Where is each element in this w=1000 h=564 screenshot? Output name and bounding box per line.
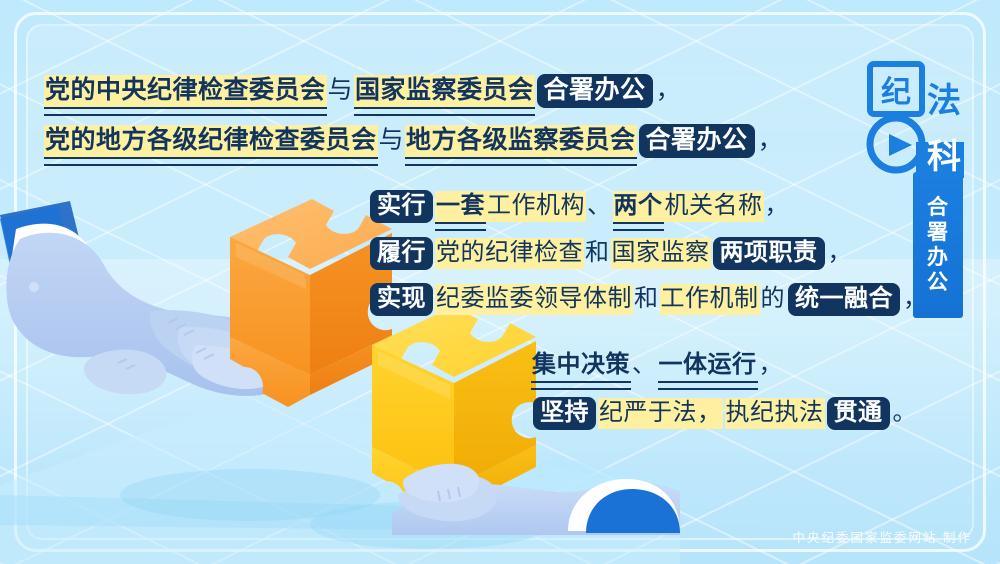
line-5-segment-0: 实现 [370,283,433,316]
vertical-banner-heshu-bangong: 合 署 办 公 [913,172,963,318]
infographic-canvas: 党的中央纪律检查委员会与国家监察委员会合署办公， 党的地方各级纪律检查委员会与地… [0,0,1000,564]
line-1-segment-0: 党的中央纪律检查委员会 [44,75,327,107]
line-3-segment-3: 、 [586,191,613,222]
text-line-5: 实现纪委监委领导体制和工作机制的统一融合， [368,283,929,316]
jifa-baike-logo: 纪 法 科 [860,58,978,178]
line-2-segment-0: 党的地方各级纪律检查委员会 [44,125,378,157]
text-content: 党的中央纪律检查委员会与国家监察委员会合署办公， 党的地方各级纪律检查委员会与地… [0,0,1000,564]
line-2-segment-2: 地方各级监察委员会 [405,125,637,157]
line-7-segment-4: 贯通 [827,397,890,430]
line-4-segment-4: 两项职责 [713,237,825,270]
line-5-segment-1: 纪委监委领导体制 [435,284,633,315]
text-line-1: 党的中央纪律检查委员会与国家监察委员会合署办公， [44,74,682,108]
text-line-2: 党的地方各级纪律检查委员会与地方各级监察委员会合署办公， [44,124,784,158]
text-line-7: 坚持纪严于法， 执纪执法贯通。 [531,397,918,430]
line-3-segment-4: 两个 [613,191,664,222]
vbanner-char-3: 公 [927,270,949,295]
footer-credit: 中央纪委国家监委网站 制作 [793,527,972,546]
line-1-segment-3: 合署办公 [537,74,653,108]
line-5-segment-5: 统一融合 [788,283,900,316]
logo-char-fa: 法 [927,82,961,120]
line-1-segment-2: 国家监察委员会 [354,75,535,107]
line-5-segment-2: 和 [633,284,660,315]
text-line-3: 实行一套工作机构、两个机关名称， [368,190,790,223]
vbanner-char-2: 办 [927,245,949,270]
line-5-segment-3: 工作机制 [660,284,760,315]
line-2-segment-4: ， [757,125,785,157]
line-4-segment-5: ， [827,238,854,269]
line-3-segment-0: 实行 [370,190,433,223]
line-6-segment-0: 集中决策 [531,350,631,381]
line-7-segment-3: 执纪执法 [725,398,825,429]
line-7-segment-0: 坚持 [533,397,596,430]
line-5-segment-4: 的 [760,284,787,315]
line-1-segment-4: ， [655,75,683,107]
text-line-4: 履行党的纪律检查和国家监察两项职责， [368,237,853,270]
vbanner-char-0: 合 [927,195,949,220]
line-1-segment-1: 与 [327,75,355,107]
line-4-segment-1: 党的纪律检查 [435,238,584,269]
line-2-segment-3: 合署办公 [639,124,755,158]
line-3-segment-6: ， [764,191,791,222]
line-4-segment-3: 国家监察 [611,238,711,269]
line-7-segment-1: 纪严于法， [598,398,723,429]
line-3-segment-5: 机关名称 [664,191,764,222]
logo-char-ji: 纪 [881,76,911,109]
vbanner-char-1: 署 [927,220,949,245]
line-6-segment-2: 一体运行 [658,350,758,381]
line-2-segment-1: 与 [378,125,406,157]
line-3-segment-2: 工作机构 [486,191,586,222]
line-3-segment-1: 一套 [435,191,486,222]
line-4-segment-0: 履行 [370,237,433,270]
line-4-segment-2: 和 [584,238,611,269]
line-7-segment-5: 。 [892,398,919,429]
text-line-6: 集中决策、一体运行， [531,350,784,381]
line-6-segment-3: ， [758,350,785,381]
logo-char-ke: 科 [927,138,961,176]
line-6-segment-1: 、 [631,350,658,381]
